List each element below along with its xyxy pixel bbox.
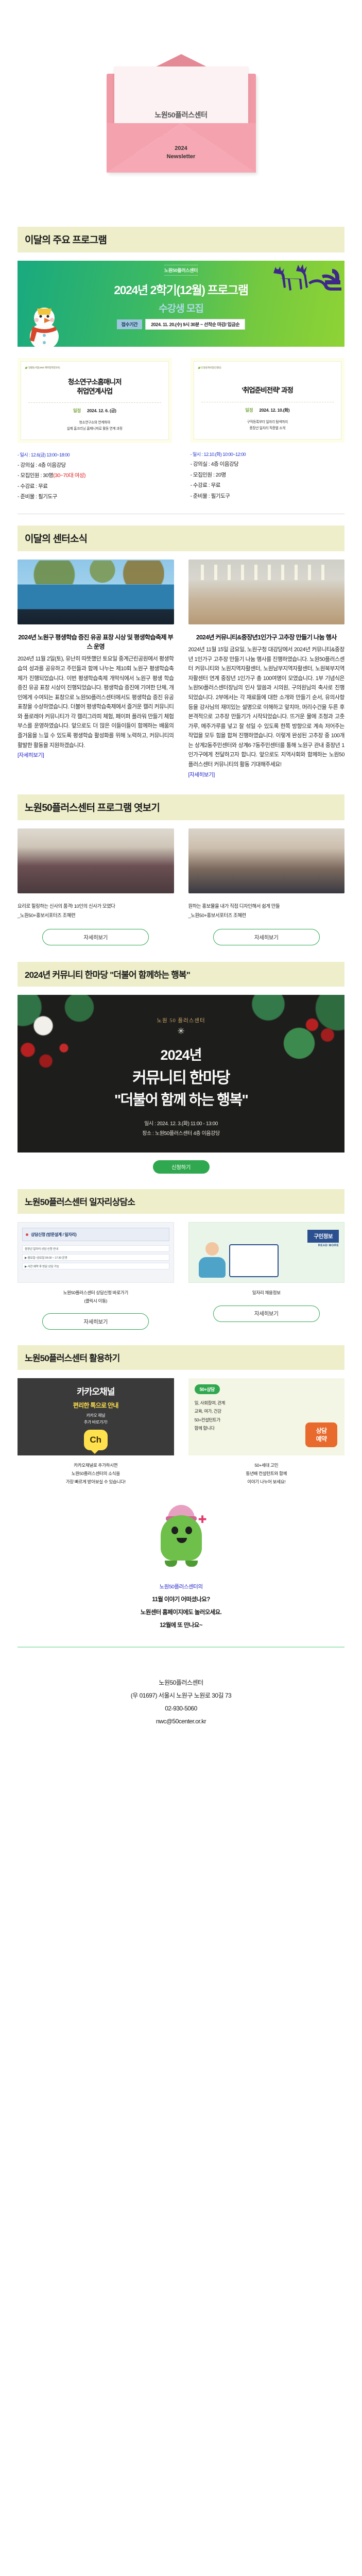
poster-line-2: "더불어 함께 하는 행복" bbox=[18, 1089, 344, 1109]
job-listing-readmore: READ MORE bbox=[318, 1244, 339, 1247]
schedule-label: 일정 bbox=[73, 408, 81, 414]
signoff-line-3: 12월에 또 만나요~ bbox=[0, 1621, 362, 1629]
kakao-line-3: 카카오 채널추가 바로가기! bbox=[18, 1413, 174, 1426]
person-head bbox=[205, 1242, 219, 1256]
job-caption-line-1: 노원50플러스센터 상담신청 바로가기 bbox=[18, 1289, 174, 1297]
capacity-note: (30~70대 여성) bbox=[53, 472, 85, 479]
usage-caption-line-1: 카카오채널로 추가하시면 bbox=[18, 1462, 174, 1470]
record-dot-icon bbox=[26, 1233, 28, 1236]
consult-reserve-button[interactable]: 상담 예약 bbox=[305, 1422, 337, 1447]
banner-content: 노원50플러스센터 2024년 2학기(12월) 프로그램 수강생 모집 접수기… bbox=[18, 265, 344, 330]
monitor-icon bbox=[229, 1244, 279, 1277]
bullet-items: - 준비물 : 필기도구 bbox=[18, 492, 172, 502]
program-card-tag: 인생설계사업(인생담) bbox=[198, 366, 337, 369]
program-bullets: - 일시 : 12.10.(화) 10:00~12:00 - 강의실 : 4층 … bbox=[191, 450, 345, 501]
mascot-section: ✚ bbox=[0, 1504, 362, 1569]
footer-address: (우 01697) 서울시 노원구 노원로 30길 73 bbox=[0, 1689, 362, 1702]
news-body: 2024년 11월 2일(토), 유난히 따뜻했던 토요일 중계근린공원에서 평… bbox=[18, 654, 174, 750]
section-heading-programs: 이달의 주요 프로그램 bbox=[18, 227, 344, 252]
bullet-datetime: - 일시 : 12.6(금) 13:00~18:00 bbox=[18, 451, 172, 460]
program-card-schedule: 일정 2024. 12. 10.(화) bbox=[198, 407, 337, 413]
peek-item: 원하는 홍보물을 내가 직접 디자인해서 쉽게 만들 _노원50+홍보서포터즈 … bbox=[188, 828, 345, 946]
section-heading-job: 노원50플러스센터 일자리상담소 bbox=[18, 1189, 344, 1214]
job-consult-column: 상담신청 (방문설계 / 일자리) 중장년 일자리 상담 신청 안내 ▶ 월요일… bbox=[18, 1222, 174, 1330]
poster-year: 2024년 bbox=[18, 1044, 344, 1064]
usage-grid: 카카오채널 편리한 톡으로 안내 카카오 채널추가 바로가기! Ch 카카오채널… bbox=[18, 1378, 344, 1486]
poster-date: 일시 : 2024. 12. 3.(화) 11:00 - 13:00 bbox=[18, 1120, 344, 1129]
program-card-title: '취업준비전략' 과정 bbox=[198, 386, 337, 395]
job-listing-graphic[interactable]: 구인정보 READ MORE bbox=[188, 1222, 345, 1283]
consult-screen-title: 상담신청 (방문설계 / 일자리) bbox=[31, 1232, 76, 1238]
chat-bubble-icon: Ch bbox=[84, 1430, 108, 1450]
consult-reservation-card[interactable]: 50+상담 일, 사회참여, 관계교육, 여가, 건강50+컨설턴트가함께 합니… bbox=[188, 1378, 345, 1455]
peek-item: 요리로 힐링하는 신사의 품격! 10인의 신사가 모였다 _노원50+홍보서포… bbox=[18, 828, 174, 946]
peek-grid: 요리로 힐링하는 신사의 품격! 10인의 신사가 모였다 _노원50+홍보서포… bbox=[18, 828, 344, 946]
signoff-line-0: 노원50플러스센터의 bbox=[0, 1583, 362, 1590]
banner-subtitle: 수강생 모집 bbox=[18, 301, 344, 315]
photo-lecture-room bbox=[188, 828, 345, 893]
tag-marker-icon bbox=[25, 367, 27, 369]
bullet-room: - 강의실 : 4층 이음강당 bbox=[18, 460, 172, 470]
reserve-line-2: 예약 bbox=[316, 1435, 327, 1443]
envelope-graphic: 노원50플러스센터 11월 이야기 2024 Newsletter bbox=[107, 54, 256, 173]
signoff-line-2: 노원센터 홈페이지에도 놀러오세요. bbox=[0, 1608, 362, 1616]
program-card-inner: 일활동사업(4050 재취업역량교육) 청소연구소홈매니저취업연계사업 일정 2… bbox=[21, 361, 169, 440]
usage-caption-line-1: 50+세대 고민 bbox=[188, 1462, 345, 1470]
schedule-label: 일정 bbox=[245, 407, 253, 413]
program-banner[interactable]: 노원50플러스센터 2024년 2학기(12월) 프로그램 수강생 모집 접수기… bbox=[18, 261, 344, 347]
divider bbox=[201, 402, 334, 402]
job-grid: 상담신청 (방문설계 / 일자리) 중장년 일자리 상담 신청 안내 ▶ 월요일… bbox=[18, 1222, 344, 1330]
stamp-year: 2024 bbox=[107, 145, 256, 153]
divider bbox=[28, 402, 161, 403]
schedule-value: 2024. 12. 6. (금) bbox=[87, 408, 116, 414]
photo-gochujang-hall bbox=[188, 560, 345, 624]
news-title: 2024년 커뮤니티&중장년1인가구 고추장 만들기 나눔 행사 bbox=[188, 633, 345, 642]
banner-title: 2024년 2학기(12월) 프로그램 bbox=[18, 280, 344, 298]
mascot-foot-right bbox=[185, 1561, 198, 1567]
program-card-inner: 인생설계사업(인생담) '취업준비전략' 과정 일정 2024. 12. 10.… bbox=[194, 361, 342, 439]
news-item: 2024년 노원구 평생학습 증진 유공 표창 시상 및 평생학습축제 부스 운… bbox=[18, 560, 174, 779]
program-card-desc: 구직등록부터 일자리 탐색까지 중장년 일자리 직종별 소개 bbox=[198, 419, 337, 432]
poster-line-1: 커뮤니티 한마당 bbox=[18, 1065, 344, 1088]
desc-line-2: 실제 홈크리닝 홈매니저로 활동 연계 과정 bbox=[25, 426, 164, 432]
mascot-foot-left bbox=[165, 1561, 177, 1567]
banner-period-chip: 접수기간 bbox=[117, 319, 143, 329]
kakao-text-block: 카카오채널 편리한 톡으로 안내 카카오 채널추가 바로가기! bbox=[18, 1378, 174, 1426]
bullet-capacity: - 모집인원 : 30명(30~70대 여성) bbox=[18, 470, 172, 481]
section-heading-peek: 노원50플러스센터 프로그램 엿보기 bbox=[18, 794, 344, 820]
program-column-1: 일활동사업(4050 재취업역량교육) 청소연구소홈매니저취업연계사업 일정 2… bbox=[18, 358, 172, 502]
reserve-line-1: 상담 bbox=[316, 1427, 327, 1435]
tag-text: 인생설계사업(인생담) bbox=[201, 366, 221, 369]
consult-lines: 일, 사회참여, 관계교육, 여가, 건강50+컨설턴트가함께 합니다 bbox=[195, 1399, 225, 1432]
mascot-icon: ✚ bbox=[153, 1504, 209, 1567]
section-divider bbox=[18, 514, 344, 514]
program-card[interactable]: 일활동사업(4050 재취업역량교육) 청소연구소홈매니저취업연계사업 일정 2… bbox=[18, 358, 172, 443]
program-cards-grid: 일활동사업(4050 재취업역량교육) 청소연구소홈매니저취업연계사업 일정 2… bbox=[18, 358, 344, 502]
job-listing-detail-button[interactable]: 자세히보기 bbox=[213, 1306, 320, 1322]
program-column-2: 인생설계사업(인생담) '취업준비전략' 과정 일정 2024. 12. 10.… bbox=[191, 358, 345, 502]
section-heading-news: 이달의 센터소식 bbox=[18, 526, 344, 551]
peek-detail-button[interactable]: 자세히보기 bbox=[213, 929, 320, 945]
job-listing-column: 구인정보 READ MORE 일자리 채용정보 자세히보기 bbox=[188, 1222, 345, 1330]
consult-row: 중장년 일자리 상담 신청 안내 bbox=[22, 1245, 169, 1252]
tag-text: 일활동사업(4050 재취업역량교육) bbox=[28, 366, 60, 369]
poster-meta: 일시 : 2024. 12. 3.(화) 11:00 - 13:00 장소 : … bbox=[18, 1120, 344, 1139]
job-consult-detail-button[interactable]: 자세히보기 bbox=[42, 1313, 149, 1330]
usage-caption-line-3: 가장 빠르게 받아보실 수 있습니다! bbox=[18, 1478, 174, 1486]
consult-screen-titlebar: 상담신청 (방문설계 / 일자리) bbox=[22, 1228, 169, 1241]
poster-content: 노원 50 플러스센터 ✳ 2024년 커뮤니티 한마당 "더불어 함께 하는 … bbox=[18, 1016, 344, 1139]
news-more-link[interactable]: [자세히보기] bbox=[18, 751, 44, 759]
job-caption: 일자리 채용정보 bbox=[188, 1289, 345, 1297]
footer-block: 노원50플러스센터 (우 01697) 서울시 노원구 노원로 30길 73 0… bbox=[0, 1676, 362, 1740]
capacity-text: - 모집인원 : 30명 bbox=[18, 472, 53, 479]
photo-cooking-class bbox=[18, 828, 174, 893]
bullet-fee: - 수강료 : 무료 bbox=[191, 480, 345, 490]
stamp-label: Newsletter bbox=[107, 153, 256, 161]
program-card-desc: 청소연구소와 연계하여 실제 홈크리닝 홈매니저로 활동 연계 과정 bbox=[25, 420, 164, 432]
kakao-column: 카카오채널 편리한 톡으로 안내 카카오 채널추가 바로가기! Ch 카카오채널… bbox=[18, 1378, 174, 1486]
community-poster[interactable]: 노원 50 플러스센터 ✳ 2024년 커뮤니티 한마당 "더불어 함께 하는 … bbox=[18, 995, 344, 1153]
mascot-eye-right bbox=[185, 1527, 192, 1534]
mascot-eye-left bbox=[171, 1527, 178, 1534]
snowflake-icon: ✳ bbox=[18, 1026, 344, 1037]
bullet-room: - 강의실 : 4층 이음강당 bbox=[191, 459, 345, 469]
section-heading-community: 2024년 커뮤니티 한마당 "더불어 함께하는 행복" bbox=[18, 962, 344, 987]
kakao-brand: 카카오채널 bbox=[18, 1384, 174, 1397]
peek-caption-line-1: 요리로 힐링하는 신사의 품격! 10인의 신사가 모였다 bbox=[18, 902, 174, 911]
program-bullets: - 일시 : 12.6(금) 13:00~18:00 - 강의실 : 4층 이음… bbox=[18, 451, 172, 502]
usage-caption-line-3: 이야기 나누어 보세요! bbox=[188, 1478, 345, 1486]
schedule-value: 2024. 12. 10.(화) bbox=[259, 407, 289, 413]
usage-caption-line-2: 노원50플러스센터의 소식을 bbox=[18, 1470, 174, 1478]
desc-line-1: 구직등록부터 일자리 탐색까지 bbox=[198, 419, 337, 426]
bullet-fee: - 수강료 : 무료 bbox=[18, 481, 172, 492]
poster-kicker: 노원 50 플러스센터 bbox=[18, 1016, 344, 1024]
consult-screen-rows: 중장년 일자리 상담 신청 안내 ▶ 월요일~금요일 09:30 ~ 17:30… bbox=[22, 1245, 169, 1272]
bullet-capacity: - 모집인원 : 20명 bbox=[191, 470, 345, 480]
job-listing-badge: 구인정보 bbox=[307, 1230, 339, 1243]
footer-center-name: 노원50플러스센터 bbox=[0, 1676, 362, 1689]
peek-caption-line-2: _노원50+홍보서포터즈 조혜련 bbox=[18, 911, 174, 921]
job-caption-line-2: (클릭시 이동) bbox=[18, 1297, 174, 1305]
news-more-link[interactable]: [자세히보기] bbox=[188, 771, 215, 778]
consult-badge: 50+상담 bbox=[195, 1384, 220, 1394]
news-title: 2024년 노원구 평생학습 증진 유공 표창 시상 및 평생학습축제 부스 운… bbox=[18, 633, 174, 652]
consult-column: 50+상담 일, 사회참여, 관계교육, 여가, 건강50+컨설턴트가함께 합니… bbox=[188, 1378, 345, 1486]
signoff-line-1: 11월 이야기 어떠셨나요? bbox=[0, 1595, 362, 1603]
hero-center-name: 노원50플러스센터 bbox=[154, 110, 207, 120]
news-item: 2024년 커뮤니티&중장년1인가구 고추장 만들기 나눔 행사 2024년 1… bbox=[188, 560, 345, 779]
bullet-items: - 준비물 : 필기도구 bbox=[191, 491, 345, 501]
hero-envelope-section: 노원50플러스센터 11월 이야기 2024 Newsletter bbox=[0, 0, 362, 227]
kakao-channel-card[interactable]: 카카오채널 편리한 톡으로 안내 카카오 채널추가 바로가기! Ch bbox=[18, 1378, 174, 1455]
news-body: 2024년 11월 15일 금요일, 노원구청 대강당에서 2024년 커뮤니티… bbox=[188, 645, 345, 769]
footer-divider bbox=[18, 1647, 344, 1648]
bullet-datetime: - 일시 : 12.10.(화) 10:00~12:00 bbox=[191, 450, 345, 460]
program-card-schedule: 일정 2024. 12. 6. (금) bbox=[25, 408, 164, 414]
footer-phone: 02-930-5060 bbox=[0, 1702, 362, 1715]
desc-line-1: 청소연구소와 연계하여 bbox=[25, 420, 164, 426]
consult-screenshot[interactable]: 상담신청 (방문설계 / 일자리) 중장년 일자리 상담 신청 안내 ▶ 월요일… bbox=[18, 1222, 174, 1283]
section-heading-usage: 노원50플러스센터 활용하기 bbox=[18, 1345, 344, 1370]
peek-detail-button[interactable]: 자세히보기 bbox=[42, 929, 149, 945]
consult-row: ▶ 월요일~금요일 09:30 ~ 17:30 운영 bbox=[22, 1254, 169, 1261]
newsletter-page: 노원50플러스센터 11월 이야기 2024 Newsletter 이달의 주요… bbox=[0, 0, 362, 1739]
mascot-plus-icon: ✚ bbox=[198, 1513, 207, 1526]
program-card[interactable]: 인생설계사업(인생담) '취업준비전략' 과정 일정 2024. 12. 10.… bbox=[191, 358, 345, 443]
poster-place: 장소 : 노원50플러스센터 4층 이음강당 bbox=[18, 1129, 344, 1139]
usage-caption: 카카오채널로 추가하시면 노원50플러스센터의 소식을 가장 빠르게 받아보실 … bbox=[18, 1462, 174, 1486]
peek-caption-line-2: _노원50+홍보서포터즈 조혜련 bbox=[188, 911, 345, 921]
program-card-title: 청소연구소홈매니저취업연계사업 bbox=[25, 378, 164, 396]
banner-kicker: 노원50플러스센터 bbox=[164, 265, 198, 276]
photo-festival-award bbox=[18, 560, 174, 624]
footer-email: nwc@50center.or.kr bbox=[0, 1715, 362, 1728]
usage-caption-line-2: 동년배 컨설턴트와 함께 bbox=[188, 1470, 345, 1478]
person-icon bbox=[197, 1242, 227, 1278]
banner-date-row: 접수기간 2024. 11. 20.(수) 9시 30분 ~ 선착순 마감/ 입… bbox=[18, 319, 344, 330]
peek-caption: 요리로 힐링하는 신사의 품격! 10인의 신사가 모였다 _노원50+홍보서포… bbox=[18, 902, 174, 921]
news-grid: 2024년 노원구 평생학습 증진 유공 표창 시상 및 평생학습축제 부스 운… bbox=[18, 560, 344, 779]
community-apply-button[interactable]: 신청하기 bbox=[153, 1160, 210, 1174]
usage-caption: 50+세대 고민 동년배 컨설턴트와 함께 이야기 나누어 보세요! bbox=[188, 1462, 345, 1486]
kakao-line-2: 편리한 톡으로 안내 bbox=[18, 1401, 174, 1410]
signoff-block: 노원50플러스센터의 11월 이야기 어떠셨나요? 노원센터 홈페이지에도 놀러… bbox=[0, 1583, 362, 1629]
person-body bbox=[199, 1257, 226, 1278]
peek-caption: 원하는 홍보물을 내가 직접 디자인해서 쉽게 만들 _노원50+홍보서포터즈 … bbox=[188, 902, 345, 921]
consult-row: ▶ 사전 예약 후 방문 상담 가능 bbox=[22, 1263, 169, 1269]
desc-line-2: 중장년 일자리 직종별 소개 bbox=[198, 426, 337, 432]
program-card-tag: 일활동사업(4050 재취업역량교육) bbox=[25, 366, 164, 369]
banner-period-value: 2024. 11. 20.(수) 9시 30분 ~ 선착순 마감/ 입금순 bbox=[145, 319, 245, 330]
tag-marker-icon bbox=[198, 367, 200, 369]
envelope-stamp: 2024 Newsletter bbox=[107, 145, 256, 161]
peek-caption-line-1: 원하는 홍보물을 내가 직접 디자인해서 쉽게 만들 bbox=[188, 902, 345, 911]
job-caption: 노원50플러스센터 상담신청 바로가기 (클릭시 이동) bbox=[18, 1289, 174, 1305]
